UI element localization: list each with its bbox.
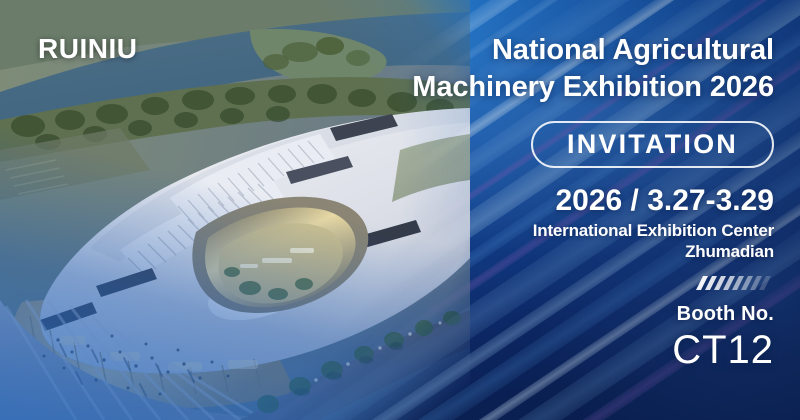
invitation-banner: RUINIU National Agricultural Machinery E… — [0, 0, 800, 420]
title-line-2: Machinery Exhibition 2026 — [314, 69, 774, 106]
brand-logo: RUINIU — [38, 33, 137, 65]
venue-city: Zhumadian — [314, 242, 774, 262]
diagonal-slash-marks-icon — [694, 274, 774, 292]
booth-number: CT12 — [474, 328, 774, 373]
booth-label: Booth No. — [474, 303, 774, 326]
event-date: 2026 / 3.27-3.29 — [314, 184, 774, 218]
event-info-block: National Agricultural Machinery Exhibiti… — [314, 32, 774, 262]
page-title: National Agricultural Machinery Exhibiti… — [314, 32, 774, 107]
invitation-badge: INVITATION — [531, 121, 774, 168]
title-line-1: National Agricultural — [314, 32, 774, 69]
booth-block: Booth No. CT12 — [474, 303, 774, 373]
venue-name: International Exhibition Center — [314, 221, 774, 241]
